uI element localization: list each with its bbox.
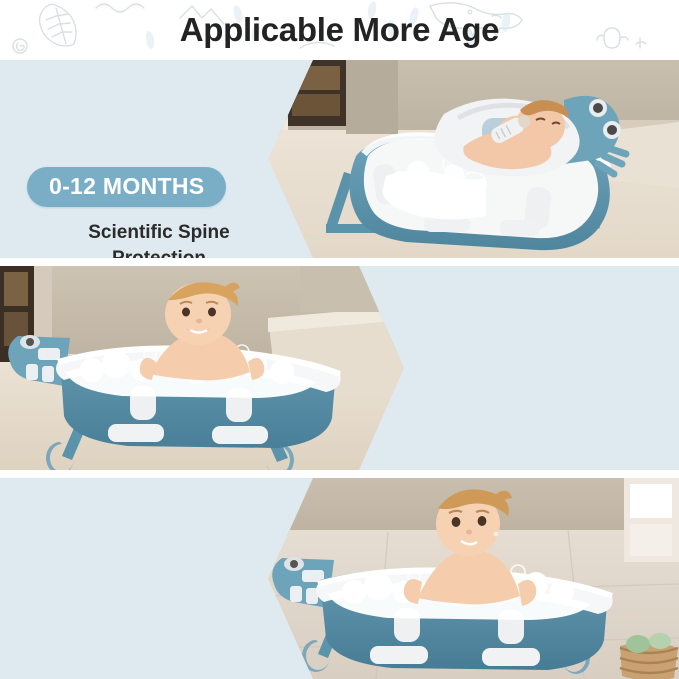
header: Applicable More Age bbox=[0, 0, 679, 60]
photo-toddler-sitting-in-tub bbox=[268, 478, 679, 679]
photo-panel-12-18-months bbox=[0, 266, 404, 470]
section-row-18-24-months: 18-24 MONTHS Sufficient space for the ba… bbox=[0, 478, 679, 679]
photo-panel-0-12-months bbox=[268, 60, 679, 258]
caption-0-12-months: Scientific Spine Protection bbox=[14, 220, 304, 258]
page-title: Applicable More Age bbox=[0, 10, 679, 50]
infographic-page: Applicable More Age bbox=[0, 0, 679, 679]
section-row-12-18-months: 12-18 MONTHS Baby Sit Up Bathing bbox=[0, 266, 679, 470]
badge-0-12-months: 0-12 MONTHS bbox=[27, 167, 226, 207]
photo-panel-18-24-months bbox=[268, 478, 679, 679]
photo-baby-sitting-in-tub bbox=[0, 266, 404, 470]
section-row-0-12-months: 0-12 MONTHS Scientific Spine Protection bbox=[0, 60, 679, 258]
photo-baby-lying-in-tub bbox=[268, 60, 679, 258]
